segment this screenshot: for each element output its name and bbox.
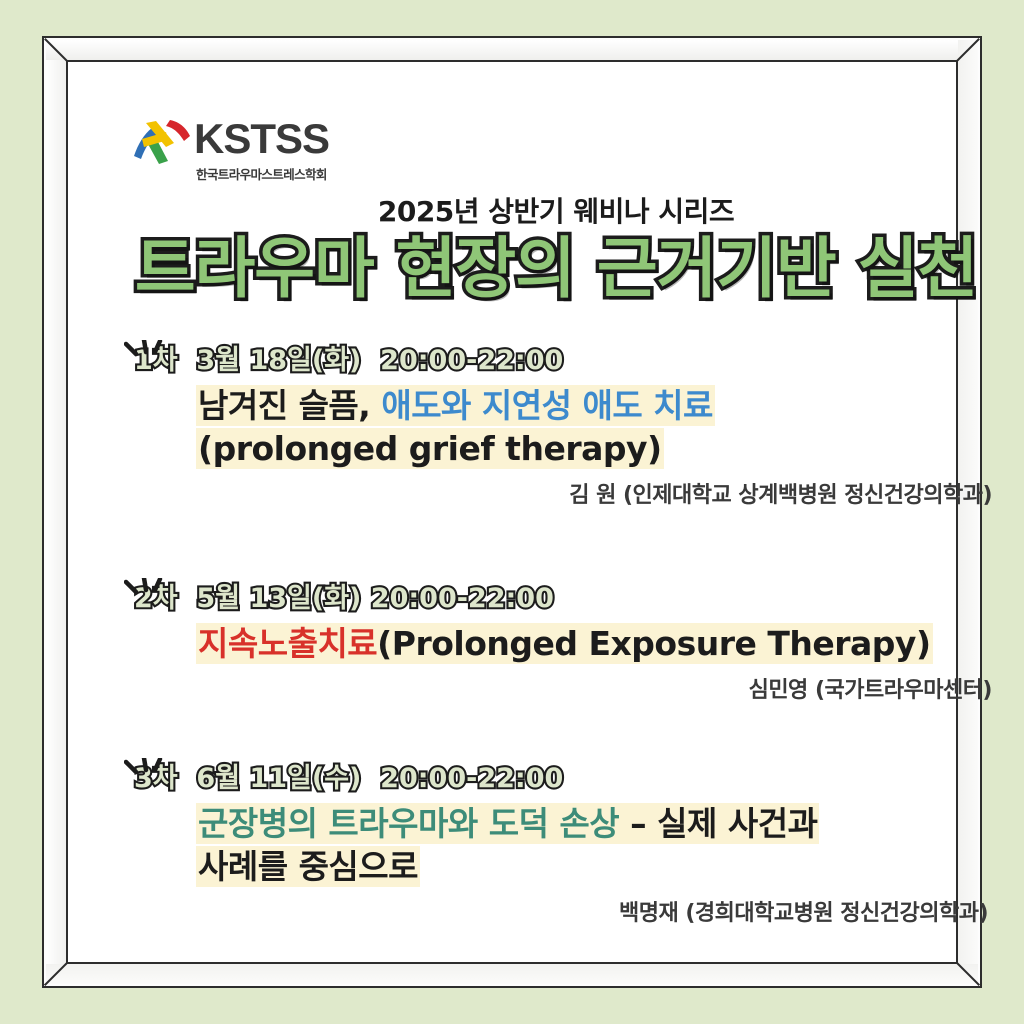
session-item-3: 3차 6월 11일(수) 20:00-22:00 군장병의 트라우마와 도덕 손… (110, 756, 1002, 927)
session-item-1: 1차 3월 18일(화) 20:00-22:00 남겨진 슬픔, 애도와 지연성… (110, 338, 1002, 509)
series-label: 2025년 상반기 웨비나 시리즈 (110, 190, 1002, 230)
page-title: 트라우마 현장의 근거기반 실천 (110, 233, 1002, 306)
session-1-meta: 1차 3월 18일(화) 20:00-22:00 (134, 338, 563, 377)
session-3-title-part-1: 군장병의 트라우마와 도덕 손상 (198, 804, 619, 843)
logo-wordmark: KSTSS (194, 118, 329, 160)
kstss-brush-mark-icon (130, 116, 194, 172)
session-3-title: 군장병의 트라우마와 도덕 손상 – 실제 사건과 사례를 중심으로 (196, 803, 1002, 889)
kstss-logo: KSTSS 한국트라우마스트레스학회 (130, 112, 370, 196)
session-1-title: 남겨진 슬픔, 애도와 지연성 애도 치료 (prolonged grief t… (196, 385, 1002, 471)
sparkle-icon (124, 340, 180, 370)
session-1-title-part-3: (prolonged grief therapy) (198, 429, 662, 468)
poster-frame: KSTSS 한국트라우마스트레스학회 2025년 상반기 웨비나 시리즈 트라우… (42, 36, 982, 988)
session-3-speaker: 백명재 (경희대학교병원 정신건강의학과) (110, 895, 1002, 927)
session-3-title-part-3: 사례를 중심으로 (198, 847, 418, 886)
session-1-speaker: 김 원 (인제대학교 상계백병원 정신건강의학과) (110, 477, 1002, 509)
frame-bevel-left (46, 40, 66, 984)
session-3-meta: 3차 6월 11일(수) 20:00-22:00 (134, 756, 563, 795)
logo-subtitle: 한국트라우마스트레스학회 (196, 164, 327, 183)
session-1-title-part-1: 남겨진 슬픔, (198, 386, 381, 425)
session-1-title-part-2: 애도와 지연성 애도 치료 (381, 386, 713, 425)
poster-content: KSTSS 한국트라우마스트레스학회 2025년 상반기 웨비나 시리즈 트라우… (110, 98, 1002, 1002)
session-2-meta: 2차 5월 13일(화) 20:00-22:00 (134, 576, 554, 615)
session-item-2: 2차 5월 13일(화) 20:00-22:00 지속노출치료(Prolonge… (110, 576, 1002, 704)
session-2-speaker: 심민영 (국가트라우마센터) (110, 672, 1002, 704)
sparkle-icon (124, 758, 180, 788)
session-2-title-part-2: (Prolonged Exposure Therapy) (377, 624, 930, 663)
session-3-title-part-2: – 실제 사건과 (619, 804, 817, 843)
session-2-title-part-1: 지속노출치료 (198, 624, 377, 663)
session-2-title: 지속노출치료(Prolonged Exposure Therapy) (196, 623, 1002, 666)
sparkle-icon (124, 578, 180, 608)
frame-bevel-top (46, 40, 978, 60)
